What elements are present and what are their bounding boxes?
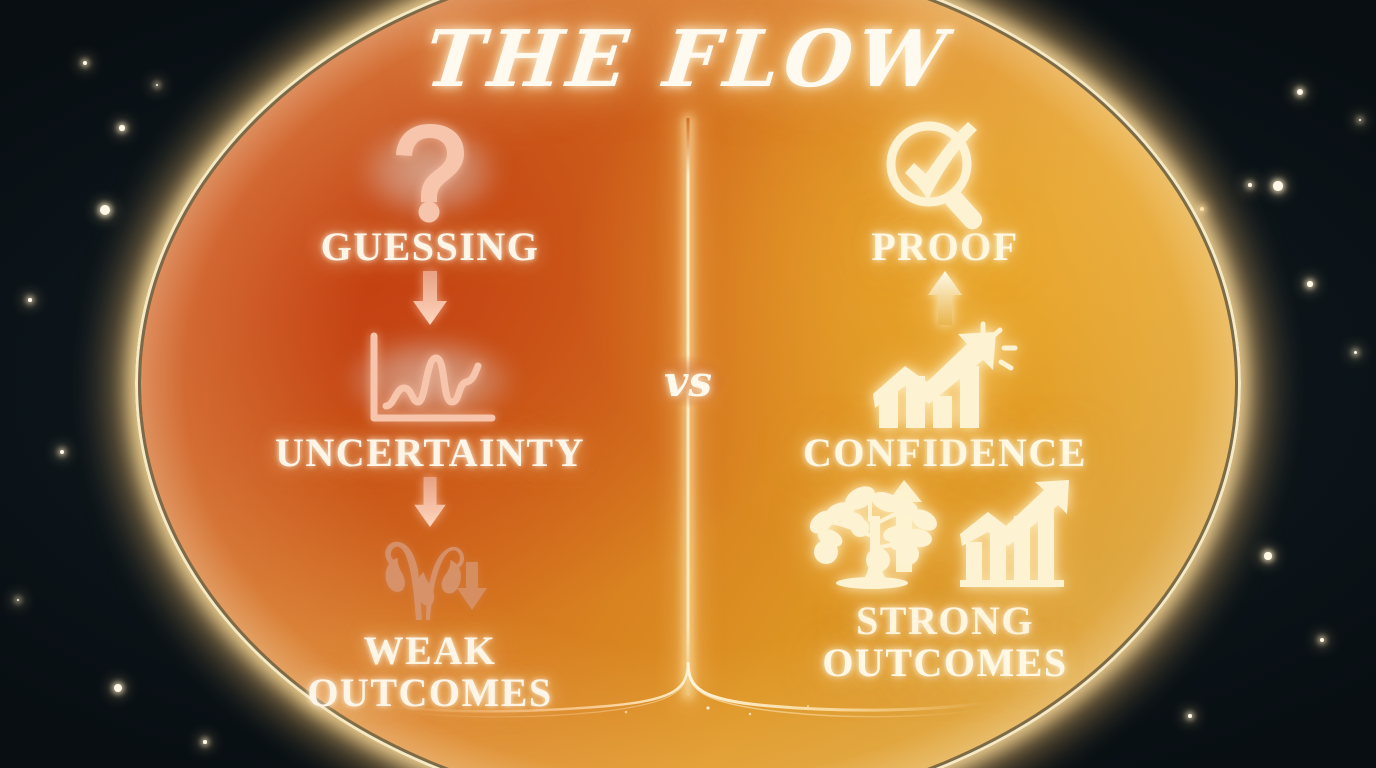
question-mark-icon bbox=[385, 118, 475, 226]
infographic-canvas: THE FLOW bbox=[0, 0, 1376, 768]
vs-label: vs bbox=[648, 355, 728, 408]
positive-path-column: PROOF bbox=[710, 118, 1180, 728]
magnifier-check-icon bbox=[881, 118, 1009, 226]
wilting-plant-icon bbox=[370, 530, 490, 626]
step-label-proof: PROOF bbox=[871, 226, 1018, 268]
arrow-down-icon-2 bbox=[412, 474, 448, 530]
step-label-guessing: GUESSING bbox=[321, 226, 540, 268]
step-label-weak-outcomes: WEAK OUTCOMES bbox=[307, 630, 552, 714]
step-label-strong-outcomes: STRONG OUTCOMES bbox=[822, 600, 1067, 684]
uncertain-chart-icon bbox=[360, 328, 500, 432]
arrow-up-icon bbox=[926, 268, 964, 328]
fruit-tree-growth-icon bbox=[800, 474, 1090, 598]
arrow-down-icon bbox=[411, 268, 449, 328]
step-label-confidence: CONFIDENCE bbox=[803, 432, 1087, 474]
step-label-uncertainty: UNCERTAINTY bbox=[275, 432, 585, 474]
negative-path-column: GUESSING bbox=[195, 118, 665, 728]
page-title: THE FLOW bbox=[0, 14, 1376, 105]
content-layer: THE FLOW bbox=[0, 0, 1376, 768]
growth-chart-arrow-icon bbox=[871, 328, 1019, 432]
